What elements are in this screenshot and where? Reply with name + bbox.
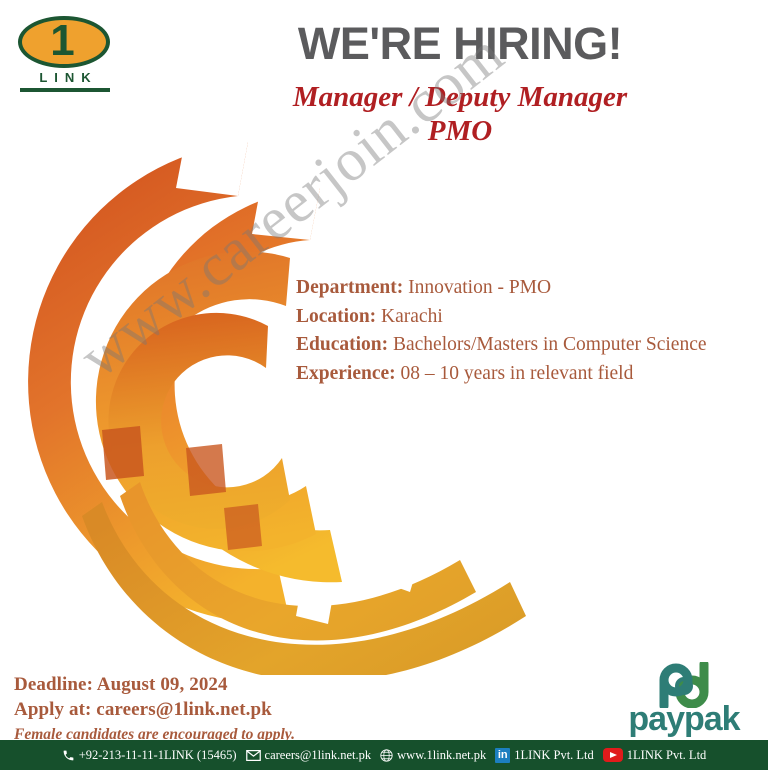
footer-youtube-text: 1LINK Pvt. Ltd <box>627 748 707 763</box>
detail-location-label: Location: <box>296 306 376 327</box>
detail-experience-value: 08 – 10 years in relevant field <box>396 363 634 384</box>
youtube-icon <box>603 748 623 762</box>
footer-website-text: www.1link.net.pk <box>397 748 486 763</box>
envelope-icon <box>246 750 261 761</box>
paypak-wordmark: paypak <box>614 702 754 736</box>
detail-education-label: Education: <box>296 334 388 355</box>
globe-icon <box>380 749 393 762</box>
job-title-line1: Manager / Deputy Manager <box>293 81 627 113</box>
detail-department: Department: Innovation - PMO <box>296 274 736 303</box>
logo-numeral: 1 <box>16 16 108 68</box>
1link-logo: 1 LINK <box>16 16 128 94</box>
detail-location: Location: Karachi <box>296 303 736 332</box>
linkedin-icon: in <box>495 748 510 763</box>
job-details: Department: Innovation - PMO Location: K… <box>296 274 736 389</box>
detail-experience-label: Experience: <box>296 363 396 384</box>
detail-education-value: Bachelors/Masters in Computer Science <box>388 334 706 355</box>
paypak-logo: paypak <box>614 662 754 740</box>
orange-swirl-graphic <box>0 130 550 675</box>
logo-wordmark: LINK <box>20 70 110 85</box>
footer-phone-text: +92-213-11-11-1LINK (15465) <box>79 748 237 763</box>
footer-contact-bar: +92-213-11-11-1LINK (15465) careers@1lin… <box>0 740 768 770</box>
headline: WE'RE HIRING! <box>160 20 760 67</box>
footer-email[interactable]: careers@1link.net.pk <box>246 748 372 763</box>
phone-icon <box>62 749 75 762</box>
logo-underline <box>20 88 110 92</box>
footer-youtube[interactable]: 1LINK Pvt. Ltd <box>603 748 707 763</box>
detail-location-value: Karachi <box>376 306 443 327</box>
footer-linkedin[interactable]: in 1LINK Pvt. Ltd <box>495 748 594 763</box>
deadline-text: Deadline: August 09, 2024 <box>14 672 295 697</box>
footer-email-text: careers@1link.net.pk <box>265 748 372 763</box>
apply-block: Deadline: August 09, 2024 Apply at: care… <box>14 672 295 746</box>
footer-phone: +92-213-11-11-1LINK (15465) <box>62 748 237 763</box>
footer-website[interactable]: www.1link.net.pk <box>380 748 486 763</box>
footer-linkedin-text: 1LINK Pvt. Ltd <box>514 748 594 763</box>
apply-at-text: Apply at: careers@1link.net.pk <box>14 697 295 722</box>
linkedin-glyph: in <box>495 748 510 763</box>
detail-experience: Experience: 08 – 10 years in relevant fi… <box>296 360 736 389</box>
detail-education: Education: Bachelors/Masters in Computer… <box>296 331 736 360</box>
detail-department-label: Department: <box>296 277 403 298</box>
job-poster: 1 LINK WE'RE HIRING! Manager / Deputy Ma… <box>0 0 768 770</box>
detail-department-value: Innovation - PMO <box>403 277 551 298</box>
